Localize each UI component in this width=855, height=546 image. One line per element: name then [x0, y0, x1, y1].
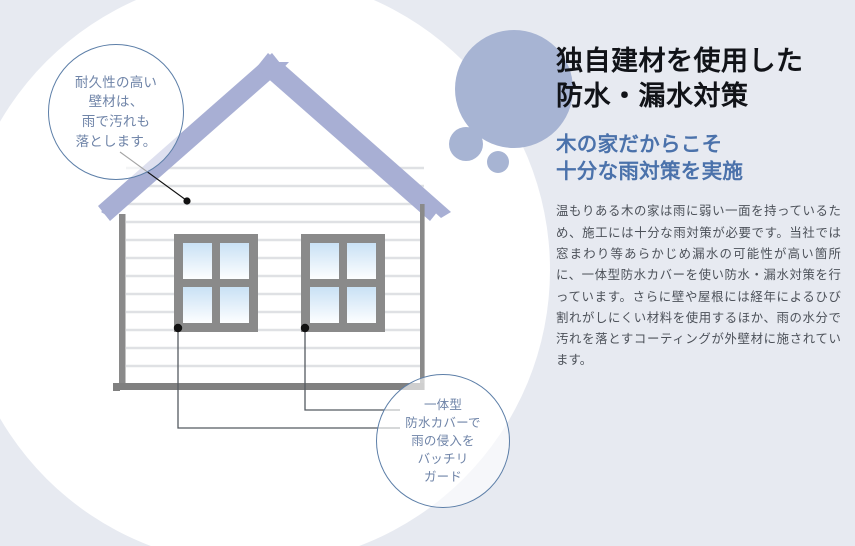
callout-wall-durability: 耐久性の高い 壁材は、 雨で汚れも 落とします。 — [48, 44, 184, 180]
right-post — [420, 204, 425, 390]
foundation-band — [113, 383, 424, 390]
callout-left-line-2: 壁材は、 — [89, 92, 144, 112]
title-line-2: 防水・漏水対策 — [556, 79, 841, 114]
window-left — [174, 234, 258, 332]
callout-waterproof-cover: 一体型 防水カバーで 雨の侵入を バッチリ ガード — [376, 374, 510, 508]
page-subtitle: 木の家だからこそ 十分な雨対策を実施 — [556, 131, 841, 185]
left-post — [119, 214, 126, 390]
callout-left-line-4: 落とします。 — [76, 132, 157, 152]
leader-dot-window-right — [301, 324, 309, 332]
callout-right-line-1: 一体型 — [424, 396, 462, 414]
callout-right-line-5: ガード — [424, 468, 462, 486]
page-title: 独自建材を使用した 防水・漏水対策 — [556, 44, 841, 113]
content-column: 独自建材を使用した 防水・漏水対策 木の家だからこそ 十分な雨対策を実施 温もり… — [556, 44, 841, 372]
leader-dot-roof — [183, 197, 190, 204]
title-line-1: 独自建材を使用した — [556, 44, 841, 79]
window-right — [301, 234, 385, 332]
callout-left-line-1: 耐久性の高い — [75, 73, 157, 93]
callout-left-line-3: 雨で汚れも — [82, 112, 151, 132]
leader-dot-window-left — [174, 324, 182, 332]
body-paragraph: 温もりある木の家は雨に弱い一面を持っているため、施工には十分な雨対策が必要です。… — [556, 201, 841, 372]
subtitle-line-1: 木の家だからこそ — [556, 131, 841, 158]
callout-right-line-4: バッチリ — [418, 450, 469, 468]
subtitle-line-2: 十分な雨対策を実施 — [556, 158, 841, 185]
infographic-canvas: 耐久性の高い 壁材は、 雨で汚れも 落とします。 一体型 防水カバーで 雨の侵入… — [0, 0, 855, 546]
callout-right-line-2: 防水カバーで — [405, 414, 480, 432]
callout-right-line-3: 雨の侵入を — [411, 432, 475, 450]
foundation-left-stub — [113, 383, 120, 391]
